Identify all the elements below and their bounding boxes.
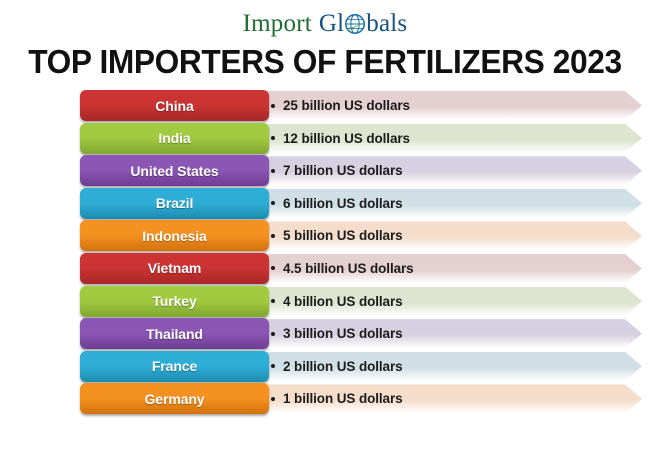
bullet-icon: [271, 136, 275, 140]
page-title: TOP IMPORTERS OF FERTILIZERS 2023: [13, 42, 637, 82]
value-label: 4.5 billion US dollars: [283, 261, 414, 276]
value-label: 7 billion US dollars: [283, 163, 403, 178]
list-item: 3 billion US dollarsThailand: [80, 318, 650, 349]
bullet-icon: [271, 299, 275, 303]
value-label: 5 billion US dollars: [283, 228, 403, 243]
bullet-icon: [271, 364, 275, 368]
country-label: India: [158, 130, 190, 146]
country-label: Turkey: [152, 293, 196, 309]
country-pill[interactable]: United States: [80, 155, 269, 186]
value-label: 4 billion US dollars: [283, 294, 403, 309]
country-label: United States: [130, 163, 218, 179]
country-pill[interactable]: Indonesia: [80, 220, 269, 251]
bullet-icon: [271, 234, 275, 238]
site-logo[interactable]: ImportGl bals: [243, 11, 408, 36]
list-item: 1 billion US dollarsGermany: [80, 383, 650, 414]
list-item: 7 billion US dollarsUnited States: [80, 155, 650, 186]
country-label: Vietnam: [148, 260, 202, 276]
bullet-icon: [271, 397, 275, 401]
logo-text-bals: bals: [366, 11, 407, 36]
country-label: Indonesia: [142, 228, 206, 244]
country-pill[interactable]: Thailand: [80, 318, 269, 349]
list-item: 25 billion US dollarsChina: [80, 90, 650, 121]
value-label: 25 billion US dollars: [283, 98, 410, 113]
country-pill[interactable]: India: [80, 123, 269, 154]
country-pill[interactable]: Brazil: [80, 188, 269, 219]
value-label: 3 billion US dollars: [283, 326, 403, 341]
bullet-icon: [271, 169, 275, 173]
importers-list: 25 billion US dollarsChina12 billion US …: [0, 90, 650, 414]
value-arrow-band: 7 billion US dollars: [265, 156, 642, 185]
country-label: Germany: [145, 391, 205, 407]
value-arrow-band: 25 billion US dollars: [265, 91, 642, 120]
value-arrow-band: 5 billion US dollars: [265, 221, 642, 250]
value-arrow-band: 12 billion US dollars: [265, 124, 642, 153]
value-arrow-band: 4.5 billion US dollars: [265, 254, 642, 283]
list-item: 2 billion US dollarsFrance: [80, 351, 650, 382]
value-label: 1 billion US dollars: [283, 391, 403, 406]
value-label: 6 billion US dollars: [283, 196, 403, 211]
country-label: France: [152, 358, 197, 374]
value-arrow-band: 4 billion US dollars: [265, 287, 642, 316]
value-arrow-band: 6 billion US dollars: [265, 189, 642, 218]
list-item: 5 billion US dollarsIndonesia: [80, 220, 650, 251]
logo-text-gl: Gl: [319, 11, 344, 36]
country-label: Thailand: [146, 326, 203, 342]
globe-icon: [344, 13, 366, 35]
logo-text-import: Import: [243, 11, 312, 36]
country-pill[interactable]: China: [80, 90, 269, 121]
bullet-icon: [271, 266, 275, 270]
value-label: 12 billion US dollars: [283, 131, 410, 146]
list-item: 12 billion US dollarsIndia: [80, 123, 650, 154]
list-item: 4 billion US dollarsTurkey: [80, 286, 650, 317]
country-label: China: [155, 98, 193, 114]
bullet-icon: [271, 332, 275, 336]
value-arrow-band: 1 billion US dollars: [265, 384, 642, 413]
value-arrow-band: 2 billion US dollars: [265, 352, 642, 381]
list-item: 4.5 billion US dollarsVietnam: [80, 253, 650, 284]
country-pill[interactable]: Vietnam: [80, 253, 269, 284]
value-arrow-band: 3 billion US dollars: [265, 319, 642, 348]
bullet-icon: [271, 104, 275, 108]
country-label: Brazil: [156, 195, 194, 211]
value-label: 2 billion US dollars: [283, 359, 403, 374]
country-pill[interactable]: France: [80, 351, 269, 382]
country-pill[interactable]: Turkey: [80, 286, 269, 317]
bullet-icon: [271, 201, 275, 205]
logo-bar: ImportGl bals: [0, 0, 650, 42]
list-item: 6 billion US dollarsBrazil: [80, 188, 650, 219]
country-pill[interactable]: Germany: [80, 383, 269, 414]
